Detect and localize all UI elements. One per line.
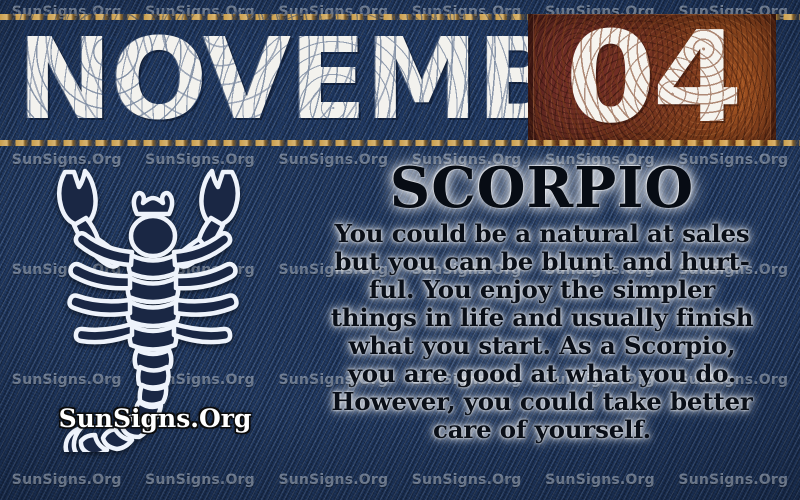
zodiac-info-column: SCORPIO You could be a natural at sales … bbox=[292, 162, 792, 444]
zodiac-calendar-card: SunSigns.Org SunSigns.Org SunSigns.Org S… bbox=[0, 0, 800, 500]
zodiac-description: You could be a natural at sales but you … bbox=[292, 220, 792, 444]
zodiac-sign-title: SCORPIO bbox=[292, 162, 792, 216]
day-number-plate: 04 bbox=[528, 14, 776, 146]
date-header-banner: NOVEMBER 04 bbox=[0, 14, 800, 146]
site-logo: SunSigns.Org bbox=[40, 404, 270, 433]
plate-edge bbox=[528, 14, 776, 146]
month-label: NOVEMBER bbox=[17, 10, 527, 150]
card-body: SunSigns.Org SCORPIO You could be a natu… bbox=[0, 146, 800, 500]
